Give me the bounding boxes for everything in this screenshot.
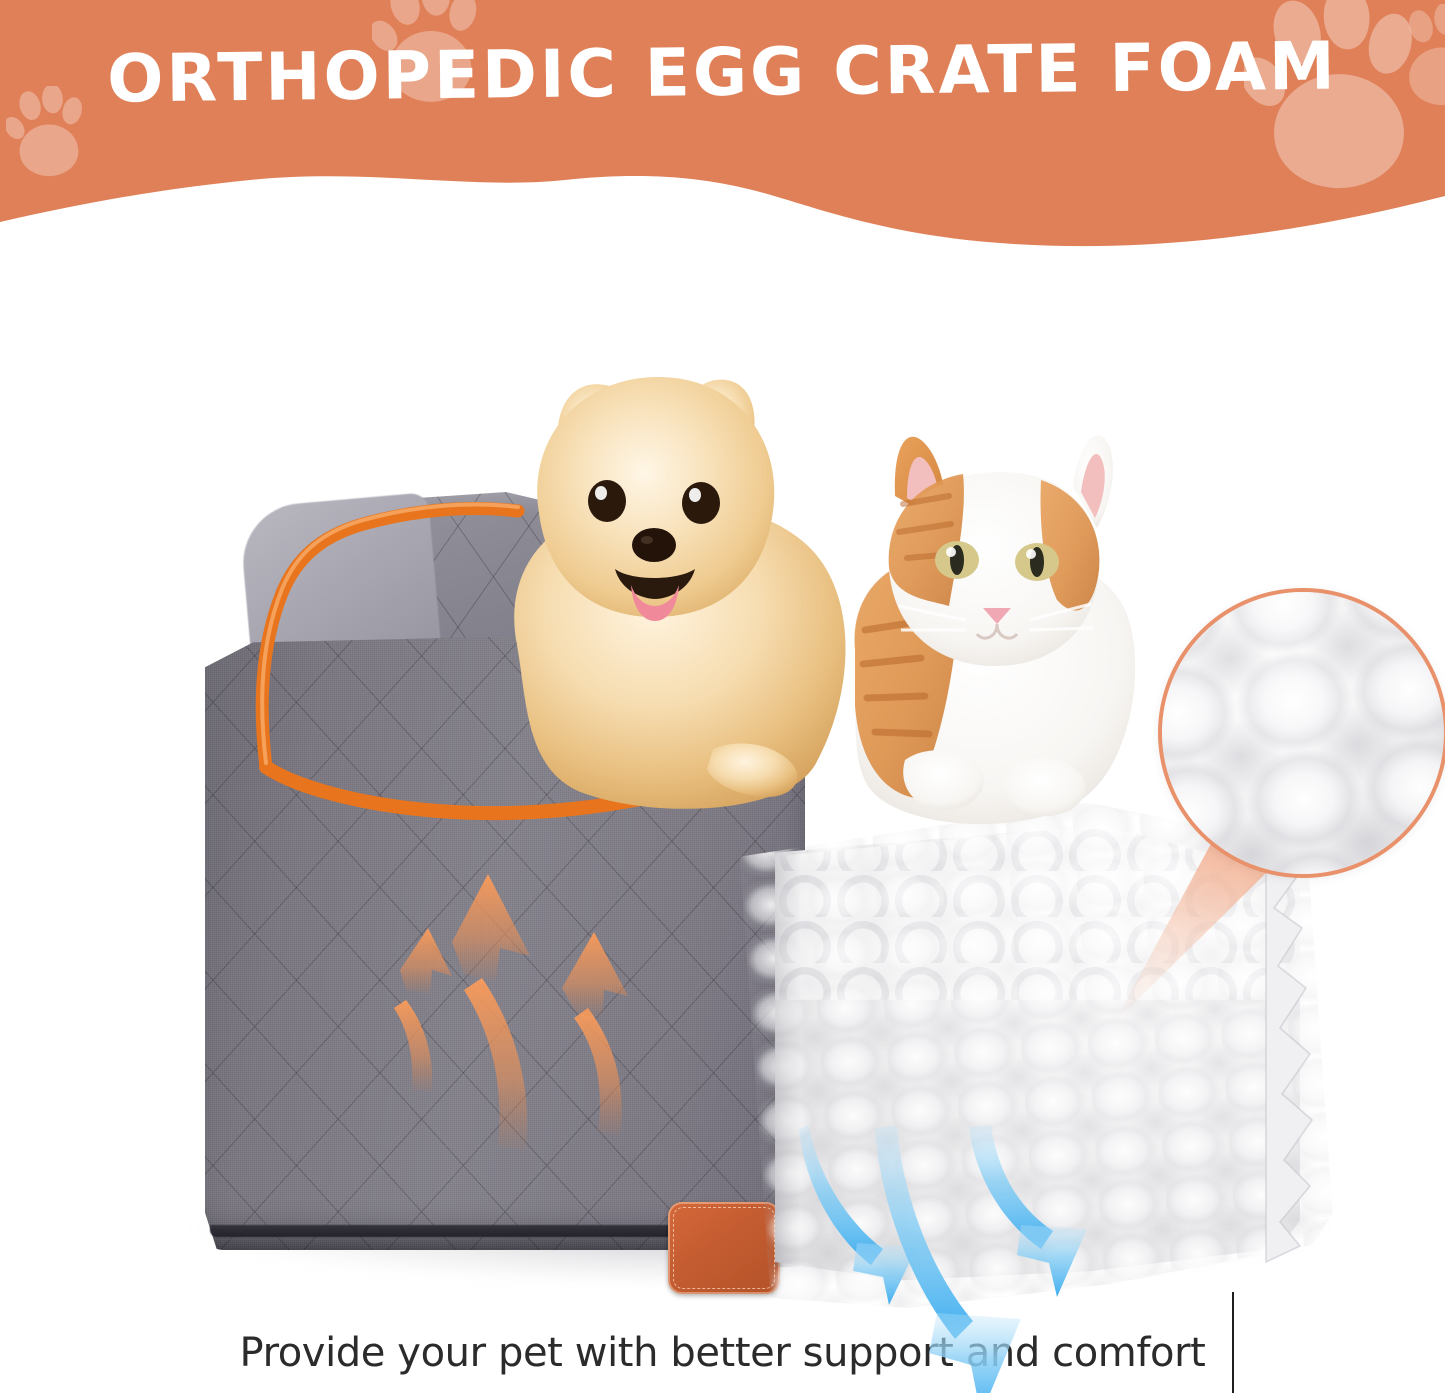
product-scene: Elevated Design [0, 250, 1445, 1330]
footer-caption: Provide your pet with better support and… [0, 1330, 1445, 1376]
orange-tabby-cat [845, 400, 1185, 840]
product-infographic: ORTHOPEDIC EGG CRATE FOAM [0, 0, 1445, 1393]
orange-arrow-left [394, 928, 452, 1092]
pomeranian-dog [455, 345, 895, 815]
brand-leather-tag [668, 1202, 780, 1294]
foam-left-shading [775, 843, 801, 1266]
foam-closeup-magnifier [1158, 588, 1445, 878]
magnifier-foam-texture [1158, 588, 1445, 878]
banner-title: ORTHOPEDIC EGG CRATE FOAM [0, 32, 1445, 113]
blue-arrow-right [969, 1125, 1087, 1297]
header-banner: ORTHOPEDIC EGG CRATE FOAM [0, 0, 1445, 250]
orange-airflow-arrows [360, 870, 660, 1190]
elevated-design-measure-line [1232, 1292, 1234, 1393]
tag-stitching [673, 1207, 775, 1289]
orange-arrow-center [452, 874, 530, 1150]
blue-airflow-arrows [805, 1125, 1135, 1393]
orange-arrow-right [562, 932, 628, 1136]
